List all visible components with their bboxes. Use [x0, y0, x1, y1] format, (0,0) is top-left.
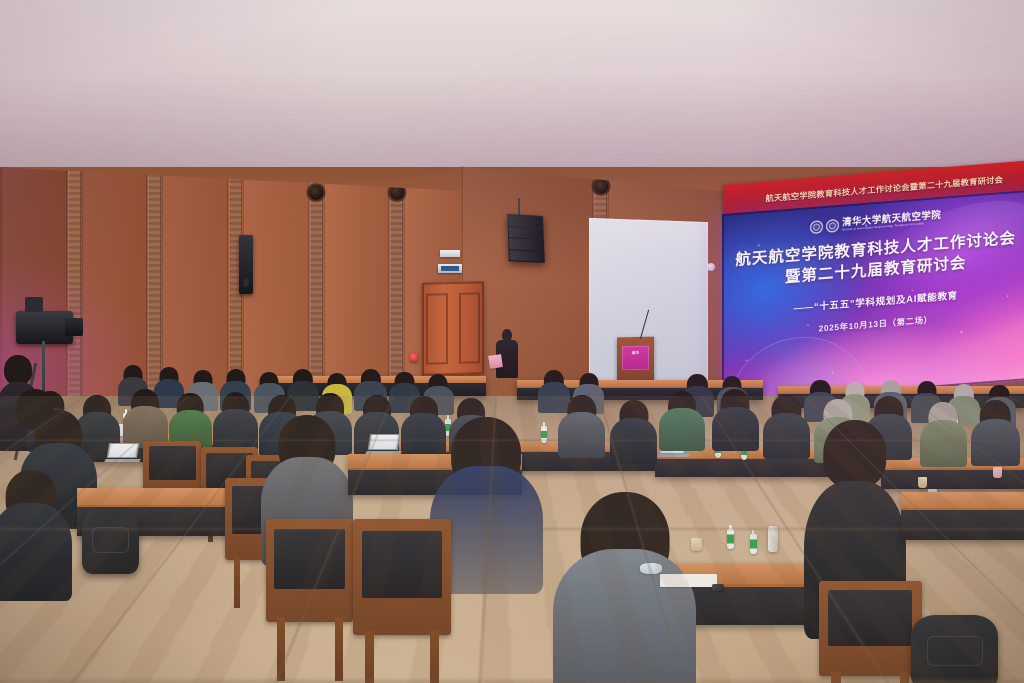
laptop — [369, 434, 399, 454]
attendee — [0, 464, 72, 601]
ceiling-speaker-icon — [593, 179, 608, 194]
podium-front-panel: 清华 — [623, 345, 650, 370]
water-bottle — [750, 534, 757, 554]
foreground-attendee-body — [553, 549, 696, 683]
university-seal-icon — [810, 220, 823, 234]
exit-sign — [438, 264, 462, 273]
attendee — [610, 400, 657, 464]
attendee — [920, 402, 967, 468]
backpack — [911, 615, 998, 683]
paper-cup — [993, 467, 1002, 478]
screen-subtitle: ——“十五五”学科规划及AI赋能教育 — [793, 287, 957, 314]
attendee — [553, 492, 696, 683]
coffered-ceiling — [0, 0, 1024, 184]
paper-cup — [691, 538, 702, 551]
videographer-head — [4, 355, 32, 385]
paper-cup — [918, 477, 927, 488]
presenter-documents — [488, 354, 503, 368]
double-door[interactable] — [422, 281, 484, 376]
ceiling-shading — [0, 0, 1024, 184]
aerospace-emblem-icon — [826, 219, 839, 233]
paper-sheets — [660, 574, 716, 588]
chair — [353, 519, 450, 635]
laptop — [108, 443, 138, 462]
led-stage-screen: 清华大学航天航空学院 School of Aerospace Engineeri… — [722, 190, 1024, 404]
tsinghua-aerospace-logo: 清华大学航天航空学院 School of Aerospace Engineeri… — [810, 211, 941, 235]
attendee — [123, 389, 168, 448]
water-bottle — [727, 529, 734, 549]
lectern-podium: 清华 — [617, 336, 654, 384]
attendee — [213, 392, 258, 452]
video-camera-icon — [16, 311, 73, 344]
face-mask — [640, 563, 662, 574]
backpack — [82, 509, 139, 574]
conference-hall-photo: 航天航空学院教育科技人才工作讨论会暨第二十九届教育研讨会 清华大学航天航空学院 … — [0, 0, 1024, 683]
wall-speaker-icon — [239, 235, 254, 294]
attendee — [712, 389, 759, 450]
fire-alarm-button[interactable] — [410, 353, 419, 362]
attendee — [659, 391, 704, 451]
thermos-flask — [768, 526, 778, 552]
screen-title: 航天航空学院教育科技人才工作讨论会 暨第二十九届教育研讨会 — [735, 228, 1016, 293]
chair — [266, 519, 353, 621]
screen-date: 2025年10月13日（第二场） — [819, 314, 933, 335]
attendee — [971, 400, 1020, 466]
attendee-head — [823, 420, 886, 489]
chair — [819, 581, 921, 677]
emergency-lamp-icon — [440, 250, 459, 257]
line-array-speaker — [507, 214, 544, 263]
standing-presenter — [492, 329, 523, 378]
podium-panel-label: 清华 — [623, 351, 650, 356]
attendee — [558, 395, 605, 458]
ceiling-speaker-icon — [309, 185, 324, 200]
mobile-phone — [712, 584, 724, 591]
desk-row — [901, 492, 1024, 540]
